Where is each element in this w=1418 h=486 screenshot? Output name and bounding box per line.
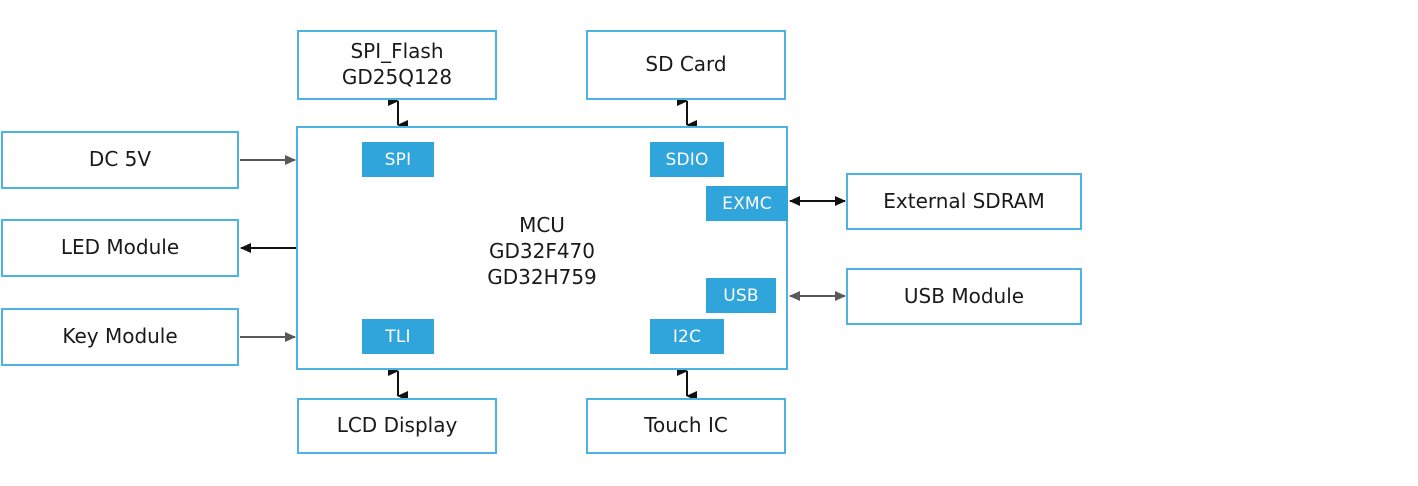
- peripheral-tag-usb[interactable]: USB: [706, 278, 776, 313]
- block-diagram-canvas: MCU GD32F470 GD32H759 SPI SDIO EXMC USB …: [0, 0, 1418, 486]
- block-usb-module[interactable]: USB Module: [846, 268, 1082, 325]
- block-sd-card[interactable]: SD Card: [586, 30, 786, 100]
- peripheral-tag-spi[interactable]: SPI: [362, 142, 434, 177]
- peripheral-tag-i2c[interactable]: I2C: [650, 319, 724, 354]
- peripheral-tag-sdio[interactable]: SDIO: [650, 142, 724, 177]
- block-dc-5v[interactable]: DC 5V: [1, 131, 239, 189]
- block-lcd-display[interactable]: LCD Display: [297, 398, 497, 454]
- block-key-module[interactable]: Key Module: [1, 308, 239, 366]
- peripheral-tag-tli[interactable]: TLI: [362, 319, 434, 354]
- peripheral-tag-exmc[interactable]: EXMC: [706, 186, 788, 221]
- block-external-sdram[interactable]: External SDRAM: [846, 173, 1082, 230]
- block-touch-ic[interactable]: Touch IC: [586, 398, 786, 454]
- block-led-module[interactable]: LED Module: [1, 219, 239, 277]
- block-spi-flash[interactable]: SPI_Flash GD25Q128: [297, 30, 497, 100]
